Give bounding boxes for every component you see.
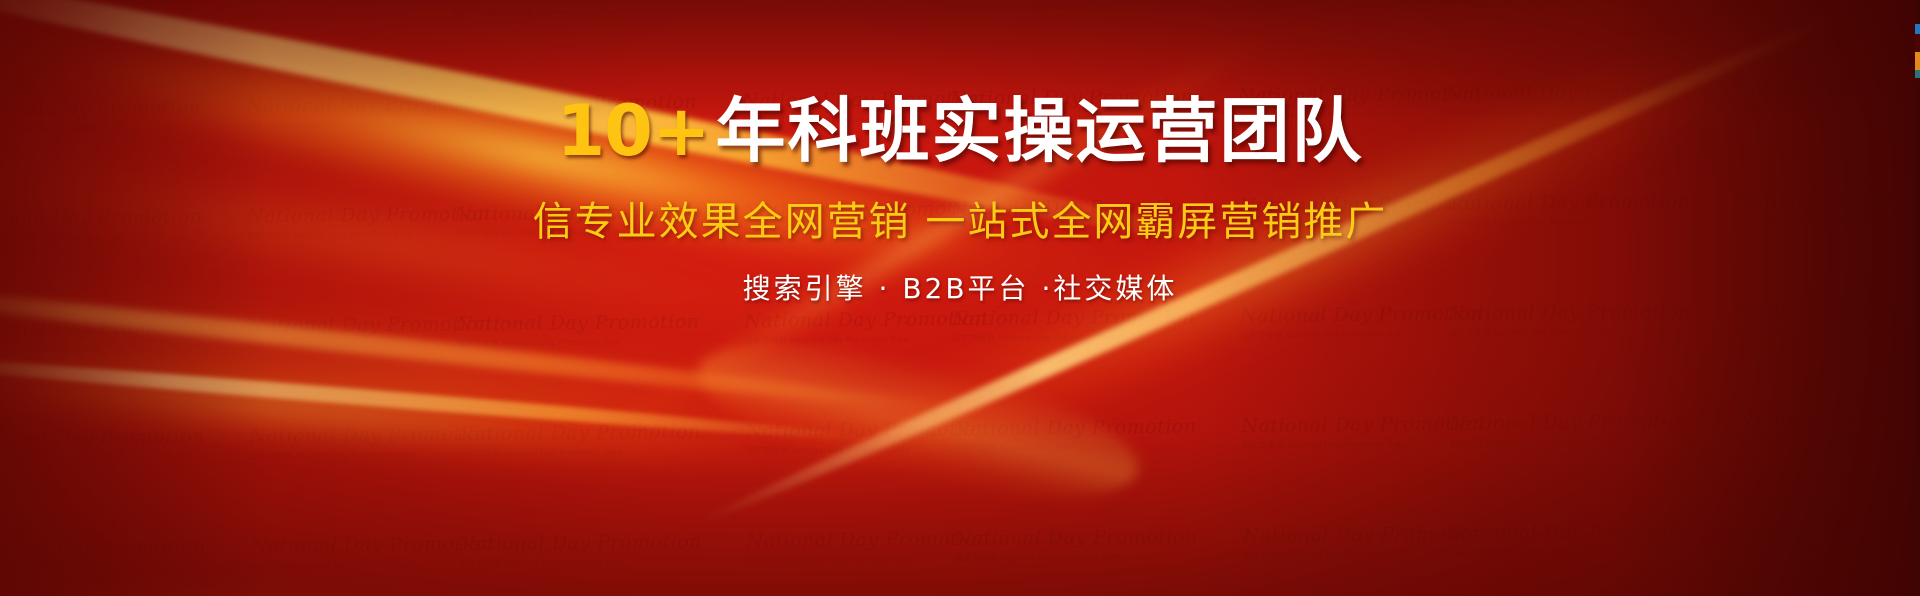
headline-text: 年科班实操运营团队 — [716, 90, 1364, 172]
right-edge-artifact — [1915, 0, 1920, 596]
tagline: 搜索引擎 · B2B平台 ·社交媒体 — [0, 267, 1920, 307]
subheadline: 信专业效果全网营销 一站式全网霸屏营销推广 — [0, 189, 1920, 247]
headline: 10+年科班实操运营团队 — [0, 96, 1920, 167]
headline-number: 10+ — [556, 90, 709, 172]
promo-banner: National Day Promotion国庆节促销 National Day… — [0, 0, 1920, 596]
banner-content: 10+年科班实操运营团队 信专业效果全网营销 一站式全网霸屏营销推广 搜索引擎 … — [0, 96, 1920, 307]
